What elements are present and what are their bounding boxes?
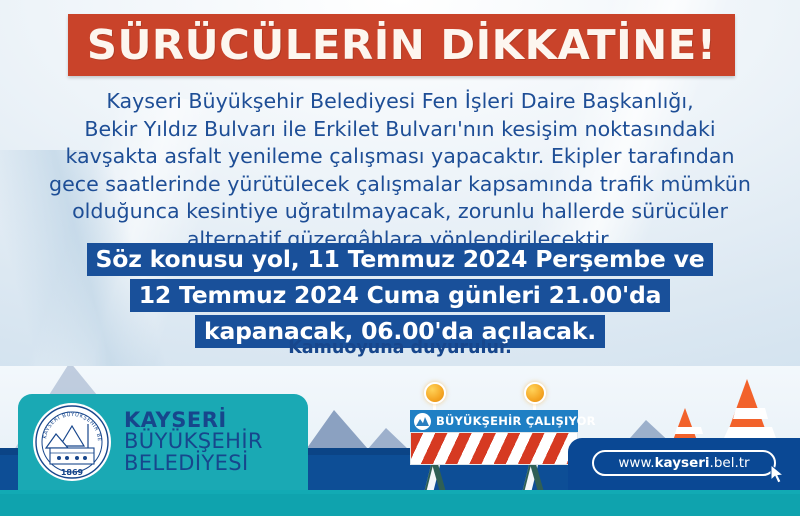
announcement-poster: SÜRÜCÜLERİN DİKKATİNE! Kayseri Büyükşehi… xyxy=(0,0,800,516)
closing-statement: Kamuoyuna duyurulur. xyxy=(0,338,800,358)
warning-lamp-icon xyxy=(524,382,546,404)
logo-name-line-2: BÜYÜKŞEHİR xyxy=(124,431,263,452)
body-line: Bekir Yıldız Bulvarı ile Erkilet Bulvarı… xyxy=(40,116,760,144)
banner-title: SÜRÜCÜLERİN DİKKATİNE! xyxy=(87,25,717,66)
body-line: olduğunca kesintiye uğratılmayacak, zoru… xyxy=(40,198,760,226)
body-line: Kayseri Büyükşehir Belediyesi Fen İşleri… xyxy=(40,88,760,116)
highlight-line: Söz konusu yol, 11 Temmuz 2024 Perşembe … xyxy=(87,243,714,276)
cursor-icon xyxy=(770,464,786,484)
website-bar: www.kayseri.bel.tr xyxy=(568,438,800,490)
municipality-mark-icon xyxy=(414,413,431,430)
barrier-sign-text: BÜYÜKŞEHİR ÇALIŞIYOR xyxy=(436,414,596,428)
website-url-pill[interactable]: www.kayseri.bel.tr xyxy=(592,450,776,476)
emblem-year: 1869 xyxy=(61,468,84,477)
body-line: gece saatlerinde yürütülecek çalışmalar … xyxy=(40,171,760,199)
road-barrier-icon: BÜYÜKŞEHİR ÇALIŞIYOR xyxy=(402,382,592,490)
municipality-logo-panel: KAYSERİ BÜYÜKŞEHİR BELEDİYESİ 1869 KAYSE… xyxy=(18,394,308,490)
barrier-sign: BÜYÜKŞEHİR ÇALIŞIYOR xyxy=(410,410,578,432)
warning-lamp-icon xyxy=(424,382,446,404)
bottom-scene: BÜYÜKŞEHİR ÇALIŞIYOR xyxy=(0,366,800,516)
header-banner: SÜRÜCÜLERİN DİKKATİNE! xyxy=(68,14,735,76)
announcement-body: Kayseri Büyükşehir Belediyesi Fen İşleri… xyxy=(40,88,760,253)
ground-teal-band xyxy=(0,490,800,516)
municipality-emblem-icon: KAYSERİ BÜYÜKŞEHİR BELEDİYESİ 1869 xyxy=(32,402,112,482)
logo-name-line-3: BELEDİYESİ xyxy=(124,453,263,474)
website-url-text: www.kayseri.bel.tr xyxy=(618,455,749,471)
body-line: kavşakta asfalt yenileme çalışması yapac… xyxy=(40,143,760,171)
barrier-stripes xyxy=(410,432,578,465)
highlight-line: 12 Temmuz 2024 Cuma günleri 21.00'da xyxy=(130,279,671,312)
highlight-block: Söz konusu yol, 11 Temmuz 2024 Perşembe … xyxy=(0,243,800,351)
municipality-name: KAYSERİ BÜYÜKŞEHİR BELEDİYESİ xyxy=(124,410,263,474)
